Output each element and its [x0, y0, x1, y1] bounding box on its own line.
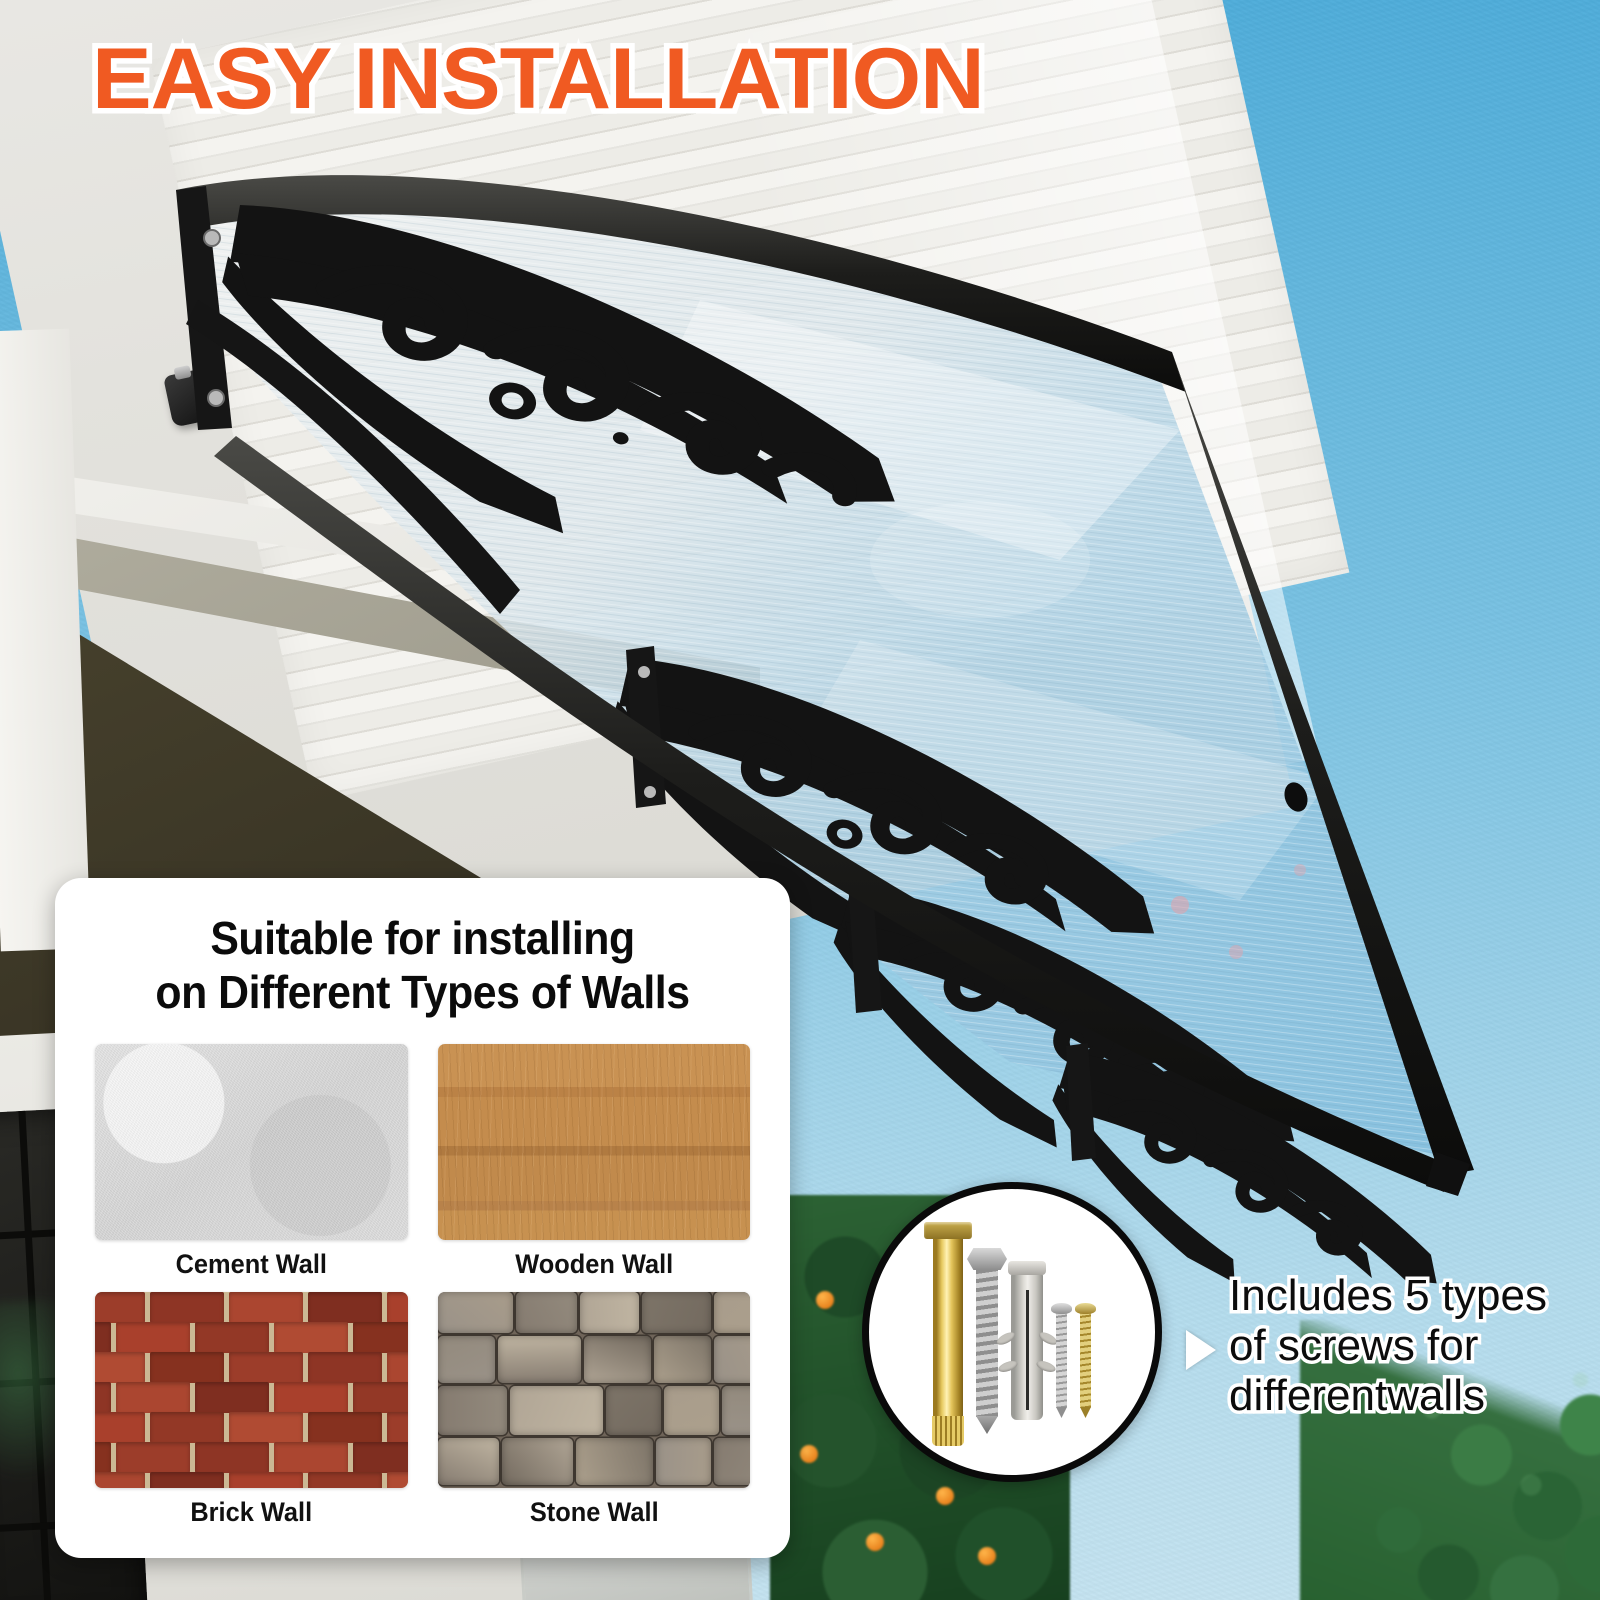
hex-lag-screw-icon	[976, 1265, 998, 1417]
card-title-line-2: on Different Types of Walls	[109, 966, 737, 1020]
wall-types-card: Suitable for installing on Different Typ…	[55, 878, 790, 1558]
wooden-wall-label: Wooden Wall	[447, 1249, 741, 1280]
plastic-wall-plug-icon	[1011, 1272, 1043, 1420]
screw-callout-text: Includes 5 types of screws for different…	[1229, 1271, 1547, 1421]
triangle-right-icon	[1186, 1330, 1216, 1370]
screw-callout-line-3: differentwalls	[1229, 1371, 1547, 1421]
card-title: Suitable for installing on Different Typ…	[109, 912, 737, 1020]
brick-wall-swatch	[95, 1292, 408, 1488]
cement-wall-swatch	[95, 1044, 408, 1240]
wall-type-grid: Cement Wall Wooden Wall Brick Wall Stone…	[85, 1044, 760, 1528]
product-marketing-image: EASY INSTALLATION Suitable for installin…	[0, 0, 1600, 1600]
screw-callout-line-2: of screws for	[1229, 1321, 1547, 1371]
wall-type-wooden: Wooden Wall	[438, 1044, 751, 1280]
small-screw-gold-icon	[1080, 1312, 1091, 1408]
stone-wall-swatch	[438, 1292, 751, 1488]
expansion-anchor-bolt-icon	[933, 1234, 963, 1430]
brick-wall-label: Brick Wall	[104, 1497, 398, 1528]
wall-type-stone: Stone Wall	[438, 1292, 751, 1528]
wall-type-brick: Brick Wall	[95, 1292, 408, 1528]
wall-type-cement: Cement Wall	[95, 1044, 408, 1280]
card-title-line-1: Suitable for installing	[109, 912, 737, 966]
page-headline: EASY INSTALLATION	[92, 36, 984, 122]
wooden-wall-swatch	[438, 1044, 751, 1240]
stone-wall-label: Stone Wall	[447, 1497, 741, 1528]
screw-callout-line-1: Includes 5 types	[1229, 1271, 1547, 1321]
screw-kit-circle	[862, 1182, 1162, 1482]
cement-wall-label: Cement Wall	[104, 1249, 398, 1280]
small-screw-silver-icon	[1056, 1312, 1067, 1408]
